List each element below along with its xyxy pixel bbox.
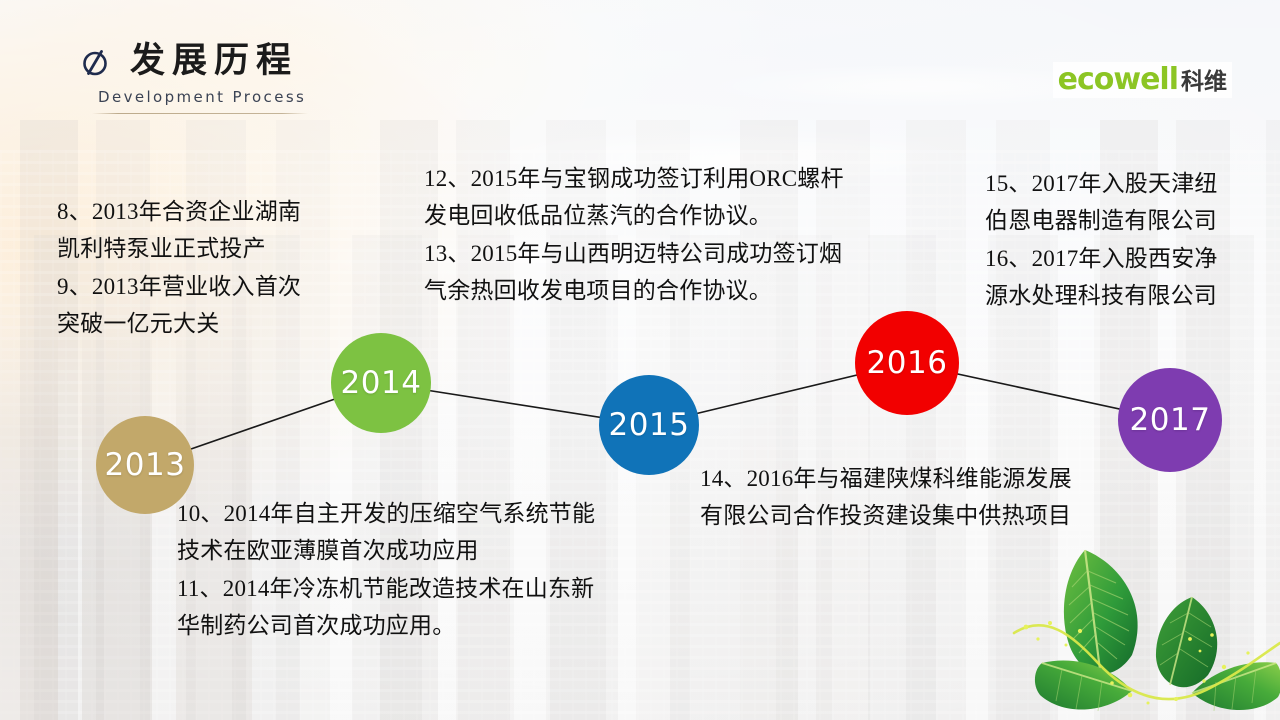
green-leaves-graphic [980,535,1280,720]
timeline-node-year-label: 2016 [867,345,948,381]
page-title: 发展历程 [130,44,298,79]
brand-logo: ecowell 科维 [1053,62,1232,98]
slashed-circle-icon [78,45,112,79]
milestone-text-2017: 15、2017年入股天津纽 伯恩电器制造有限公司 16、2017年入股西安净 源… [985,165,1270,314]
slide-canvas: 发展历程 Development Process ecowell 科维 2013… [0,0,1280,720]
leaf-right [1156,597,1217,687]
timeline-node-year-label: 2017 [1130,402,1211,438]
timeline-node-year-label: 2013 [105,447,186,483]
milestone-text-2013: 8、2013年合资企业湖南 凯利特泵业正式投产 9、2013年营业收入首次 突破… [57,193,367,342]
milestone-text-2015: 12、2015年与宝钢成功签订利用ORC螺杆 发电回收低品位蒸汽的合作协议。 1… [424,160,944,309]
timeline-node-2016[interactable]: 2016 [855,311,959,415]
milestone-text-2016: 14、2016年与福建陕煤科维能源发展 有限公司合作投资建设集中供热项目 [700,460,1160,535]
timeline-node-year-label: 2014 [341,365,422,401]
logo-chinese-name: 科维 [1181,71,1227,94]
title-divider [92,113,308,114]
page-subtitle: Development Process [98,88,308,106]
timeline-node-2017[interactable]: 2017 [1118,368,1222,472]
title-row: 发展历程 [78,44,308,79]
timeline-node-year-label: 2015 [609,407,690,443]
timeline-node-2015[interactable]: 2015 [599,375,699,475]
milestone-text-2014: 10、2014年自主开发的压缩空气系统节能 技术在欧亚薄膜首次成功应用 11、2… [177,495,707,644]
slide-header: 发展历程 Development Process [78,44,308,114]
leaf-large [1064,550,1138,674]
logo-wordmark: ecowell [1058,65,1178,95]
timeline-node-2014[interactable]: 2014 [331,333,431,433]
